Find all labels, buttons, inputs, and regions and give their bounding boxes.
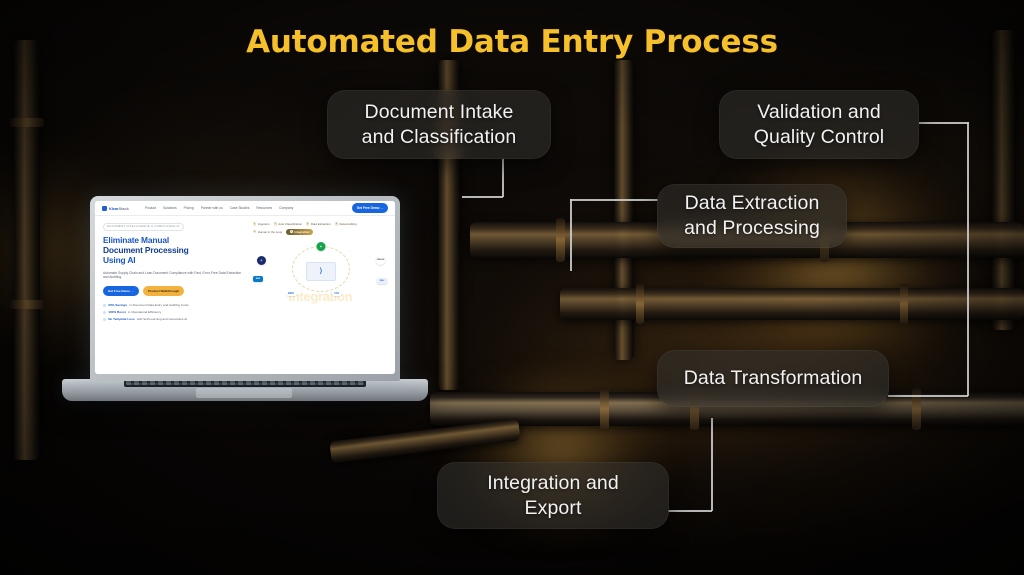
headline-line-1: Eliminate Manual: [103, 235, 169, 245]
step-auto-classification[interactable]: 2 Auto Classification: [274, 222, 303, 226]
step-label: Integration: [294, 230, 309, 234]
step-number: 3: [306, 222, 309, 225]
badge-erps: ERPs: [286, 291, 297, 296]
chip-text: Validation and Quality Control: [754, 100, 884, 150]
step-number: 2: [274, 222, 277, 225]
chip-text: Data Extraction and Processing: [684, 191, 820, 241]
headline-line-2: Document Processing: [103, 245, 189, 255]
node-sap-icon: SAP: [253, 276, 263, 282]
page-title: Automated Data Entry Process: [0, 24, 1024, 60]
laptop-trackpad: [196, 388, 292, 398]
laptop-screen: KlearStack Product Solutions Pricing Par…: [95, 201, 395, 374]
hero-product-walkthrough-button[interactable]: Product Walkthrough: [143, 286, 184, 296]
site-navbar: KlearStack Product Solutions Pricing Par…: [95, 201, 395, 216]
node-oracle-icon: ORACLE: [376, 256, 385, 265]
chip-line-1: Integration and: [487, 472, 619, 494]
nav-item-case-studies[interactable]: Case Studies: [230, 206, 250, 210]
connector-validation-to-transformation: [888, 395, 968, 397]
integration-diagram: Integration ◆ ◎ ORACLE SAP XML ⟩: [253, 240, 389, 302]
logo-mark-icon: [102, 206, 107, 211]
feature-item: 60% Savings in Document Data Entry and A…: [103, 303, 245, 307]
website-preview: KlearStack Product Solutions Pricing Par…: [95, 201, 395, 374]
label-data-extraction-and-processing[interactable]: Data Extraction and Processing: [657, 184, 847, 248]
hero-headline: Eliminate Manual Document Processing Usi…: [103, 235, 245, 266]
chip-line-2: and Classification: [362, 126, 517, 148]
node-xml-icon: XML: [377, 278, 387, 284]
connector-integration-vertical: [711, 418, 713, 511]
chip-line-2: Export: [525, 497, 582, 519]
check-icon: [103, 304, 106, 307]
feature-item: No Template Loss with Self-Learning and …: [103, 317, 245, 321]
chip-text: Data Transformation: [684, 366, 863, 391]
check-icon: [103, 311, 106, 314]
badge-csv: CSV: [332, 291, 342, 296]
site-logo[interactable]: KlearStack: [102, 206, 129, 211]
connector-validation-horizontal: [919, 122, 969, 124]
chip-text: Integration and Export: [487, 471, 619, 521]
hero-get-free-demo-button[interactable]: Get Free Demo →: [103, 286, 139, 296]
check-icon: [103, 318, 106, 321]
site-hero: DOCUMENT INTELLIGENCE & COMPLIANCE AI El…: [95, 216, 395, 374]
chip-line-1: Document Intake: [365, 101, 514, 123]
step-number: 1: [253, 222, 256, 225]
laptop-lid: KlearStack Product Solutions Pricing Par…: [90, 196, 400, 381]
feature-rest: in Document Data Entry and Auditing Cost…: [129, 303, 189, 307]
step-label: Human in the Loop: [258, 230, 282, 234]
site-nav-links: Product Solutions Pricing Partner with u…: [145, 206, 294, 210]
step-label: Ingestion: [258, 222, 270, 226]
feature-highlight: 100% Boost: [108, 310, 126, 314]
step-data-auditing[interactable]: 4 Data Auditing: [335, 222, 357, 226]
diagram-logo-glyph: ⟩: [320, 267, 323, 275]
label-document-intake-and-classification[interactable]: Document Intake and Classification: [327, 90, 551, 159]
connector-document-intake-vertical: [502, 159, 504, 197]
label-validation-and-quality-control[interactable]: Validation and Quality Control: [719, 90, 919, 159]
nav-item-product[interactable]: Product: [145, 206, 156, 210]
pipeline-steps: 1 Ingestion 2 Auto Classification 3 Data…: [253, 222, 389, 235]
hero-buttons: Get Free Demo → Product Walkthrough: [103, 286, 245, 296]
label-data-transformation[interactable]: Data Transformation: [657, 350, 889, 407]
logo-text: KlearStack: [109, 206, 129, 211]
infographic-canvas: Automated Data Entry Process Document In…: [0, 0, 1024, 575]
node-connector-icon: ◎: [257, 256, 266, 265]
nav-item-company[interactable]: Company: [279, 206, 293, 210]
feature-rest: with Self-Learning and Generative AI: [137, 317, 187, 321]
headline-line-3: Using AI: [103, 255, 135, 265]
logo-brand: Klear: [109, 206, 119, 211]
connector-document-intake-horizontal: [462, 196, 503, 198]
step-integration[interactable]: 6 Integration: [286, 229, 313, 235]
nav-item-resources[interactable]: Resources: [256, 206, 272, 210]
logo-brand-suffix: Stack: [119, 206, 129, 211]
connector-extraction-horizontal: [570, 199, 658, 201]
nav-item-solutions[interactable]: Solutions: [163, 206, 177, 210]
step-number: 4: [335, 222, 338, 225]
chip-text: Document Intake and Classification: [362, 100, 517, 150]
hero-subtext: Automate Supply Chain and Loan Document …: [103, 271, 245, 281]
diagram-center-laptop-icon: ⟩: [306, 262, 336, 281]
feature-highlight: 60% Savings: [108, 303, 127, 307]
nav-get-free-demo-button[interactable]: Get Free Demo →: [352, 203, 388, 212]
chip-line-2: and Processing: [684, 217, 820, 239]
label-integration-and-export[interactable]: Integration and Export: [437, 462, 669, 529]
step-label: Data Extraction: [311, 222, 331, 226]
chip-line-1: Validation and: [757, 101, 881, 123]
node-api-icon: ◆: [317, 242, 326, 251]
connector-extraction-vertical: [570, 199, 572, 271]
feature-item: 100% Boost in Operational Efficiency: [103, 310, 245, 314]
hero-right-column: 1 Ingestion 2 Auto Classification 3 Data…: [251, 216, 395, 374]
step-number: 5: [253, 230, 256, 233]
hero-eyebrow: DOCUMENT INTELLIGENCE & COMPLIANCE AI: [103, 223, 184, 231]
step-label: Auto Classification: [278, 222, 302, 226]
nav-item-pricing[interactable]: Pricing: [184, 206, 194, 210]
step-ingestion[interactable]: 1 Ingestion: [253, 222, 270, 226]
connector-integration-horizontal: [668, 510, 712, 512]
laptop-mockup: KlearStack Product Solutions Pricing Par…: [62, 196, 428, 446]
step-data-extraction[interactable]: 3 Data Extraction: [306, 222, 331, 226]
feature-rest: in Operational Efficiency: [128, 310, 161, 314]
chip-line-1: Data Extraction: [685, 192, 820, 214]
feature-highlight: No Template Loss: [108, 317, 134, 321]
step-label: Data Auditing: [339, 222, 356, 226]
hero-left-column: DOCUMENT INTELLIGENCE & COMPLIANCE AI El…: [95, 216, 251, 374]
step-number: 6: [290, 230, 293, 233]
chip-line-2: Quality Control: [754, 126, 884, 148]
hero-feature-list: 60% Savings in Document Data Entry and A…: [103, 303, 245, 321]
connector-validation-vertical: [967, 122, 969, 396]
nav-item-partner[interactable]: Partner with us: [201, 206, 223, 210]
step-human-in-the-loop[interactable]: 5 Human in the Loop: [253, 229, 282, 235]
